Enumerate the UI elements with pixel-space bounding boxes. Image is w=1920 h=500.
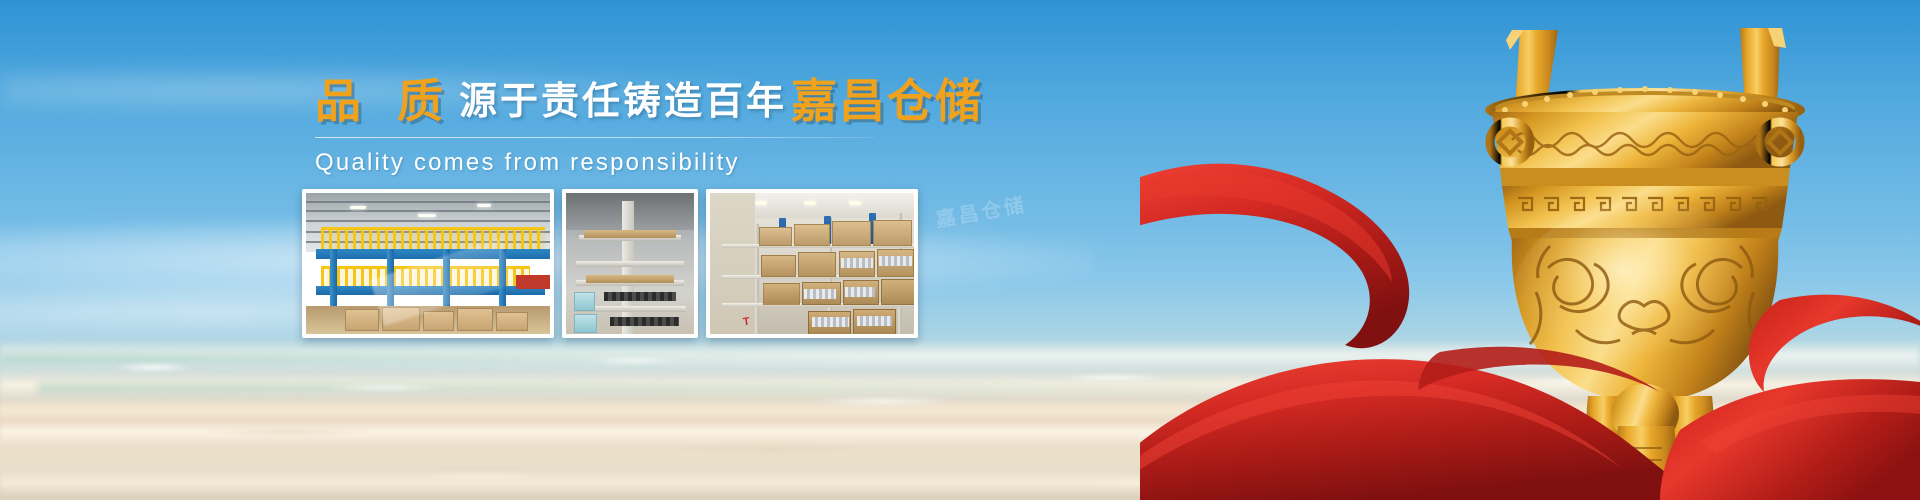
ribbon-right	[1749, 295, 1920, 392]
headline-divider	[315, 137, 875, 138]
mezzanine-deck-upper	[316, 249, 550, 259]
photo-mezzanine-racking[interactable]	[302, 189, 554, 338]
photo-cantilever-rack[interactable]	[562, 189, 698, 338]
subtitle-text: Quality comes from responsibility	[315, 149, 915, 177]
photo-1-content	[306, 193, 550, 334]
photo-3-content: T	[710, 193, 914, 334]
red-panel	[516, 275, 550, 289]
photo-shelving-boxes[interactable]: T	[706, 189, 918, 338]
golden-ding-illustration	[1140, 0, 1920, 500]
ribbon-foreground	[1140, 347, 1920, 500]
photo-2-content	[566, 193, 694, 334]
headline-brand-text: 嘉昌仓储	[791, 74, 983, 128]
decorative-artwork	[1140, 0, 1920, 500]
floor-marking: T	[742, 316, 750, 329]
headline-accent-text: 品 质	[315, 74, 453, 128]
ribbon-left	[1140, 164, 1409, 349]
headline-block: 品 质源于责任铸造百年嘉昌仓储 Quality comes from respo…	[315, 78, 915, 177]
main-headline: 品 质源于责任铸造百年嘉昌仓储	[315, 78, 915, 124]
cantilever-column	[622, 201, 634, 334]
promotional-banner: 品 质源于责任铸造百年嘉昌仓储 Quality comes from respo…	[0, 0, 1920, 500]
headline-middle-text: 源于责任铸造百年	[459, 79, 787, 123]
